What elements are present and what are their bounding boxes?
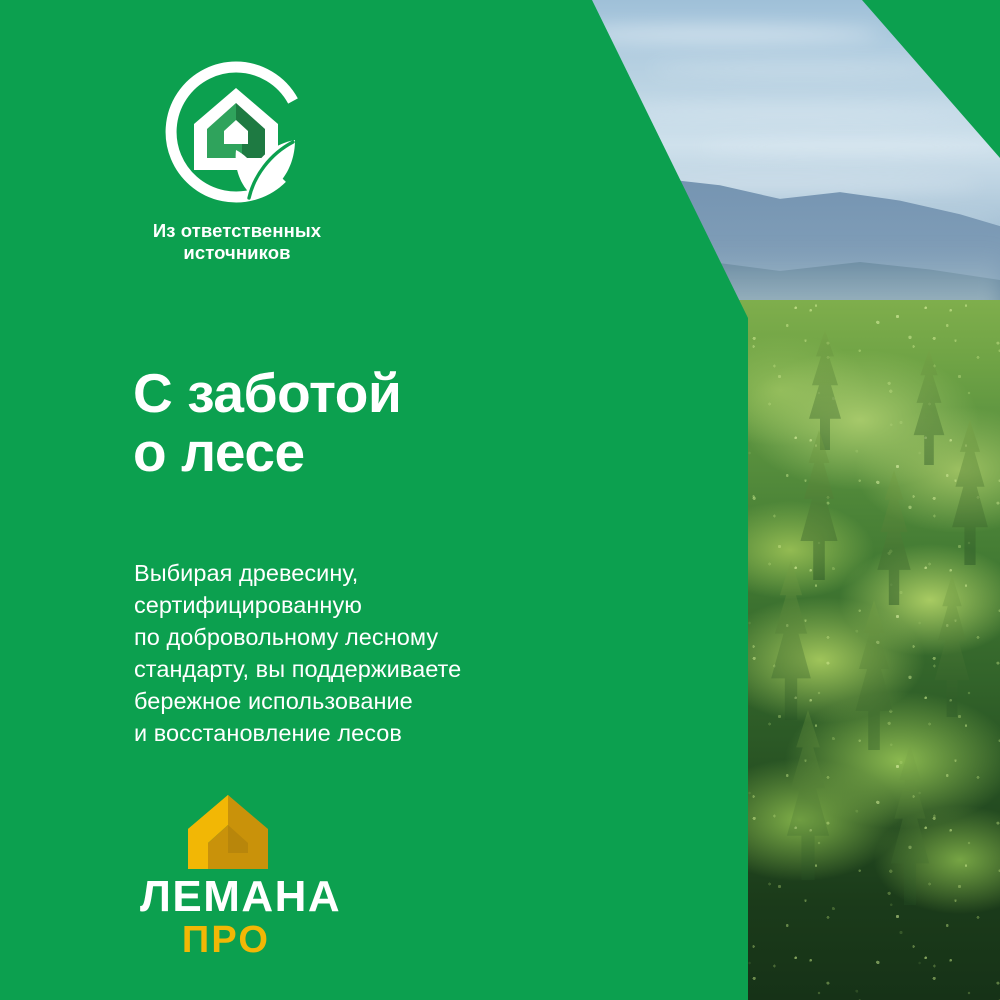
poster-canvas: Из ответственных источников С заботой о … <box>0 0 1000 1000</box>
poster-content: Из ответственных источников С заботой о … <box>0 0 748 1000</box>
eco-badge: Из ответственных источников <box>130 58 360 264</box>
eco-badge-caption: Из ответственных источников <box>130 220 344 264</box>
lemana-house-icon <box>182 793 274 871</box>
brand-name: ЛЕМАНА <box>140 875 340 919</box>
tree-silhouette <box>760 560 822 720</box>
tree-silhouette <box>775 710 841 880</box>
tree-silhouette <box>925 575 979 717</box>
brand-sub: ПРО <box>140 921 312 959</box>
tree-silhouette <box>845 600 903 750</box>
brand-lockup: ЛЕМАНА ПРО <box>140 793 340 959</box>
tree-silhouette <box>880 745 940 905</box>
body-paragraph: Выбирая древесину, сертифицированную по … <box>134 557 461 750</box>
tree-silhouette <box>942 420 998 565</box>
eco-house-leaf-circle-icon <box>162 58 310 206</box>
tree-silhouette <box>868 470 920 605</box>
tree-silhouette <box>790 430 848 580</box>
page-title: С заботой о лесе <box>133 364 401 483</box>
